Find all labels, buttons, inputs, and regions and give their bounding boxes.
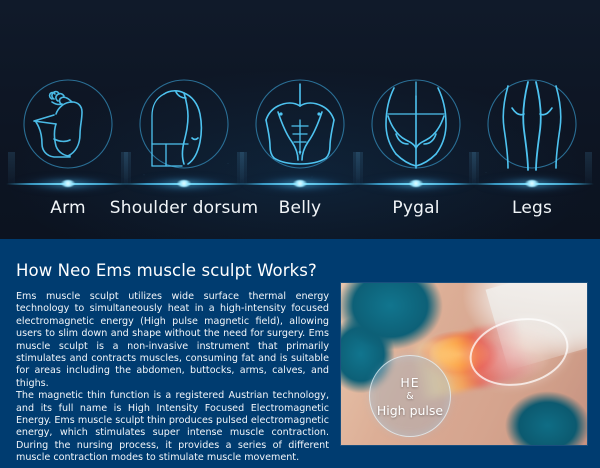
- badge-line-3: High pulse: [377, 403, 443, 418]
- flexed-bicep-icon: [14, 72, 122, 180]
- icon-pedestal: [122, 174, 246, 196]
- body-part-item-arm[interactable]: Arm: [14, 72, 122, 232]
- body-parts-row: Arm: [0, 72, 600, 232]
- treatment-photo: HE & High pulse: [341, 283, 587, 445]
- pedestal-hotspot: [177, 180, 191, 187]
- body-part-label: Legs: [512, 198, 552, 218]
- body-part-label: Pygal: [392, 198, 439, 218]
- body-parts-hero: Arm: [0, 0, 600, 239]
- pedestal-hotspot: [61, 180, 75, 187]
- body-part-item-pygal[interactable]: Pygal: [362, 72, 470, 232]
- icon-pedestal: [6, 174, 130, 196]
- body-part-item-shoulder-dorsum[interactable]: Shoulder dorsum: [130, 72, 238, 232]
- icon-pedestal: [470, 174, 594, 196]
- badge-line-1: HE: [400, 375, 419, 390]
- pedestal-hotspot: [409, 180, 423, 187]
- icon-pedestal: [238, 174, 362, 196]
- body-part-item-legs[interactable]: Legs: [478, 72, 586, 232]
- description-paragraph-2: The magnetic thin function is a register…: [16, 390, 329, 464]
- legs-icon: [478, 72, 586, 180]
- how-it-works-copy: How Neo Ems muscle sculpt Works? Ems mus…: [16, 261, 329, 465]
- description-paragraph-1: Ems muscle sculpt utilizes wide surface …: [16, 291, 329, 390]
- body-part-item-belly[interactable]: Belly: [246, 72, 354, 232]
- body-part-label: Shoulder dorsum: [110, 198, 258, 218]
- high-pulse-badge: HE & High pulse: [369, 355, 451, 437]
- promo-page: Arm: [0, 0, 600, 468]
- page-title: How Neo Ems muscle sculpt Works?: [16, 261, 329, 280]
- body-part-label: Belly: [279, 198, 322, 218]
- buttocks-icon: [362, 72, 470, 180]
- pedestal-hotspot: [293, 180, 307, 187]
- pedestal-hotspot: [525, 180, 539, 187]
- abdomen-torso-icon: [246, 72, 354, 180]
- shoulder-back-icon: [130, 72, 238, 180]
- badge-line-2: &: [406, 391, 413, 402]
- icon-pedestal: [354, 174, 478, 196]
- body-part-label: Arm: [50, 198, 85, 218]
